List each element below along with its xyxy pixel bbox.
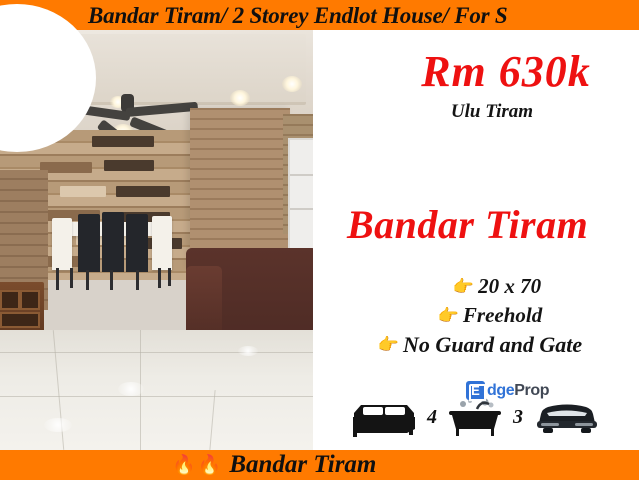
bottom-banner: 🔥 🔥 Bandar Tiram xyxy=(0,450,639,480)
chair-leg xyxy=(158,268,161,288)
dining-chair xyxy=(78,214,100,272)
edgeprop-logo-dge: dge xyxy=(487,382,514,400)
fire-icon: 🔥 xyxy=(198,453,222,477)
sofa-arm xyxy=(186,266,222,336)
dining-chair xyxy=(102,212,124,272)
wall-plank xyxy=(104,160,154,171)
top-banner-title: Bandar Tiram/ 2 Storey Endlot House/ For… xyxy=(88,1,508,30)
feature-item-size: 👉 20 x 70 xyxy=(313,274,639,299)
feature-item-tenure: 👉 Freehold xyxy=(313,303,639,328)
bottom-banner-content: 🔥 🔥 Bandar Tiram xyxy=(172,450,376,480)
chair-leg xyxy=(110,270,113,290)
dining-chair xyxy=(152,216,172,270)
floor-reflection xyxy=(118,382,144,396)
chair-leg xyxy=(70,268,73,288)
feature-label: 20 x 70 xyxy=(478,274,541,299)
feature-label: Freehold xyxy=(463,303,542,328)
chair-leg xyxy=(168,268,171,286)
car-icon xyxy=(533,397,601,437)
price-text: Rm 630k xyxy=(313,48,639,96)
wall-plank xyxy=(60,186,106,197)
headline-text: Bandar Tiram xyxy=(347,202,588,248)
cabinet-drawer xyxy=(0,312,40,328)
shelf-divider xyxy=(290,174,313,176)
floor-reflection xyxy=(238,346,258,356)
tile-grout xyxy=(0,352,313,353)
feature-item-security: 👉 No Guard and Gate xyxy=(313,332,639,358)
wall-plank xyxy=(116,186,170,197)
brick-pillar xyxy=(190,108,290,268)
locality-text: Ulu Tiram xyxy=(313,100,639,124)
shelf-divider xyxy=(290,208,313,210)
edgeprop-house-icon: E xyxy=(466,381,485,400)
chair-leg xyxy=(86,270,89,290)
edgeprop-logo-e: E xyxy=(471,381,480,400)
edgeprop-watermark: E dge Prop xyxy=(466,381,549,400)
dining-chair xyxy=(52,218,72,270)
tile-grout xyxy=(0,396,313,397)
wall-plank xyxy=(92,136,154,147)
downlight xyxy=(230,90,250,106)
pointing-hand-icon: 👉 xyxy=(453,277,474,297)
feature-list: 👉 20 x 70 👉 Freehold 👉 No Guard and Gate xyxy=(313,274,639,362)
cabinet-door xyxy=(0,290,20,310)
dining-chair xyxy=(126,214,148,272)
feature-label: No Guard and Gate xyxy=(403,332,582,358)
bottom-banner-label: Bandar Tiram xyxy=(229,451,376,479)
property-listing-poster: Rm 630k Ulu Tiram Bandar Tiram 👉 20 x 70… xyxy=(0,0,639,480)
pointing-hand-icon: 👉 xyxy=(438,306,459,326)
cabinet-door xyxy=(20,290,40,310)
white-shelf-unit xyxy=(288,138,313,250)
top-banner: Bandar Tiram/ 2 Storey Endlot House/ For… xyxy=(0,0,639,30)
bed-icon xyxy=(351,395,417,439)
fire-icon: 🔥 xyxy=(172,453,196,477)
chair-leg xyxy=(56,268,59,290)
edgeprop-logo-prop: Prop xyxy=(514,382,549,400)
pointing-hand-icon: 👉 xyxy=(378,335,399,355)
tile-grout xyxy=(209,390,215,450)
chair-leg xyxy=(136,270,139,290)
downlight xyxy=(282,76,302,92)
tile-floor xyxy=(0,330,313,450)
floor-reflection xyxy=(44,418,72,432)
bathtub-icon xyxy=(447,395,503,439)
bathroom-count: 3 xyxy=(513,406,523,429)
bedroom-count: 4 xyxy=(427,406,437,429)
